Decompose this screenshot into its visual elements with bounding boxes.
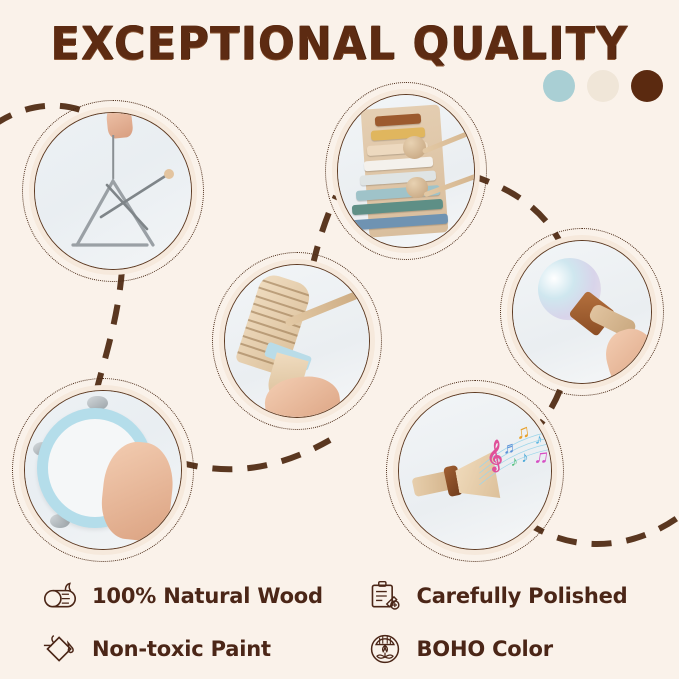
bubble-photo-tambourine	[24, 390, 182, 550]
swatch-boho-brown	[631, 70, 663, 102]
feature-item-non-toxic-paint: Non-toxic Paint	[0, 623, 335, 676]
photo-bubble-guiro	[212, 252, 382, 430]
bubble-photo-guiro	[224, 264, 370, 418]
music-note-icon: ♫	[532, 446, 550, 469]
swatch-boho-blue	[543, 70, 575, 102]
bubble-photo-triangle	[34, 112, 192, 270]
photo-bubble-xylophone	[325, 82, 487, 260]
photo-bubble-whistle: ♫♪𝄞♬♪♪♫	[386, 380, 564, 562]
photo-bubble-maraca	[500, 228, 664, 396]
bubble-photo-maraca	[512, 240, 652, 384]
feature-item-natural-wood: 100% Natural Wood	[0, 570, 335, 623]
clipboard-check-icon	[367, 579, 403, 613]
photo-bubble-triangle	[22, 100, 204, 282]
feature-label: BOHO Color	[417, 637, 553, 661]
feature-item-boho-color: BOHO Color	[345, 623, 679, 676]
header: EXCEPTIONAL QUALITY	[0, 12, 679, 74]
triangle-instrument-icon	[35, 113, 191, 269]
feature-item-carefully-polished: Carefully Polished	[345, 570, 679, 623]
color-swatch-group	[543, 70, 663, 102]
feature-label: Carefully Polished	[417, 584, 628, 608]
paint-bucket-icon	[42, 632, 78, 666]
music-note-icon: ♪	[520, 449, 529, 465]
feature-label: Non-toxic Paint	[92, 637, 271, 661]
page-title: EXCEPTIONAL QUALITY	[50, 17, 628, 70]
music-note-icon: ♪	[510, 454, 518, 469]
photo-bubble-tambourine	[12, 378, 194, 562]
bubble-photo-whistle: ♫♪𝄞♬♪♪♫	[398, 392, 552, 550]
swatch-boho-cream	[587, 70, 619, 102]
feature-list: 100% Natural Wood Carefully Polished Non…	[0, 570, 679, 675]
music-notes-group: ♫♪𝄞♬♪♪♫	[484, 421, 551, 496]
bubble-photo-xylophone	[337, 94, 475, 248]
boho-badge-icon	[367, 632, 403, 666]
wood-log-icon	[42, 579, 78, 613]
music-note-icon: 𝄞	[487, 441, 503, 469]
feature-label: 100% Natural Wood	[92, 584, 323, 608]
